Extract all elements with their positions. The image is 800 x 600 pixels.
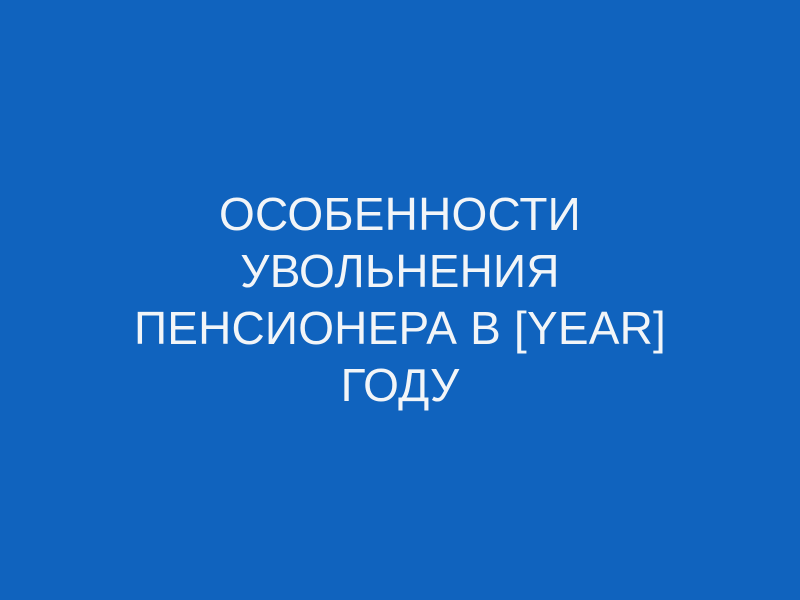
card-title: ОСОБЕННОСТИ УВОЛЬНЕНИЯ ПЕНСИОНЕРА В [YEA… (70, 186, 730, 414)
placeholder-card: ОСОБЕННОСТИ УВОЛЬНЕНИЯ ПЕНСИОНЕРА В [YEA… (0, 0, 800, 600)
